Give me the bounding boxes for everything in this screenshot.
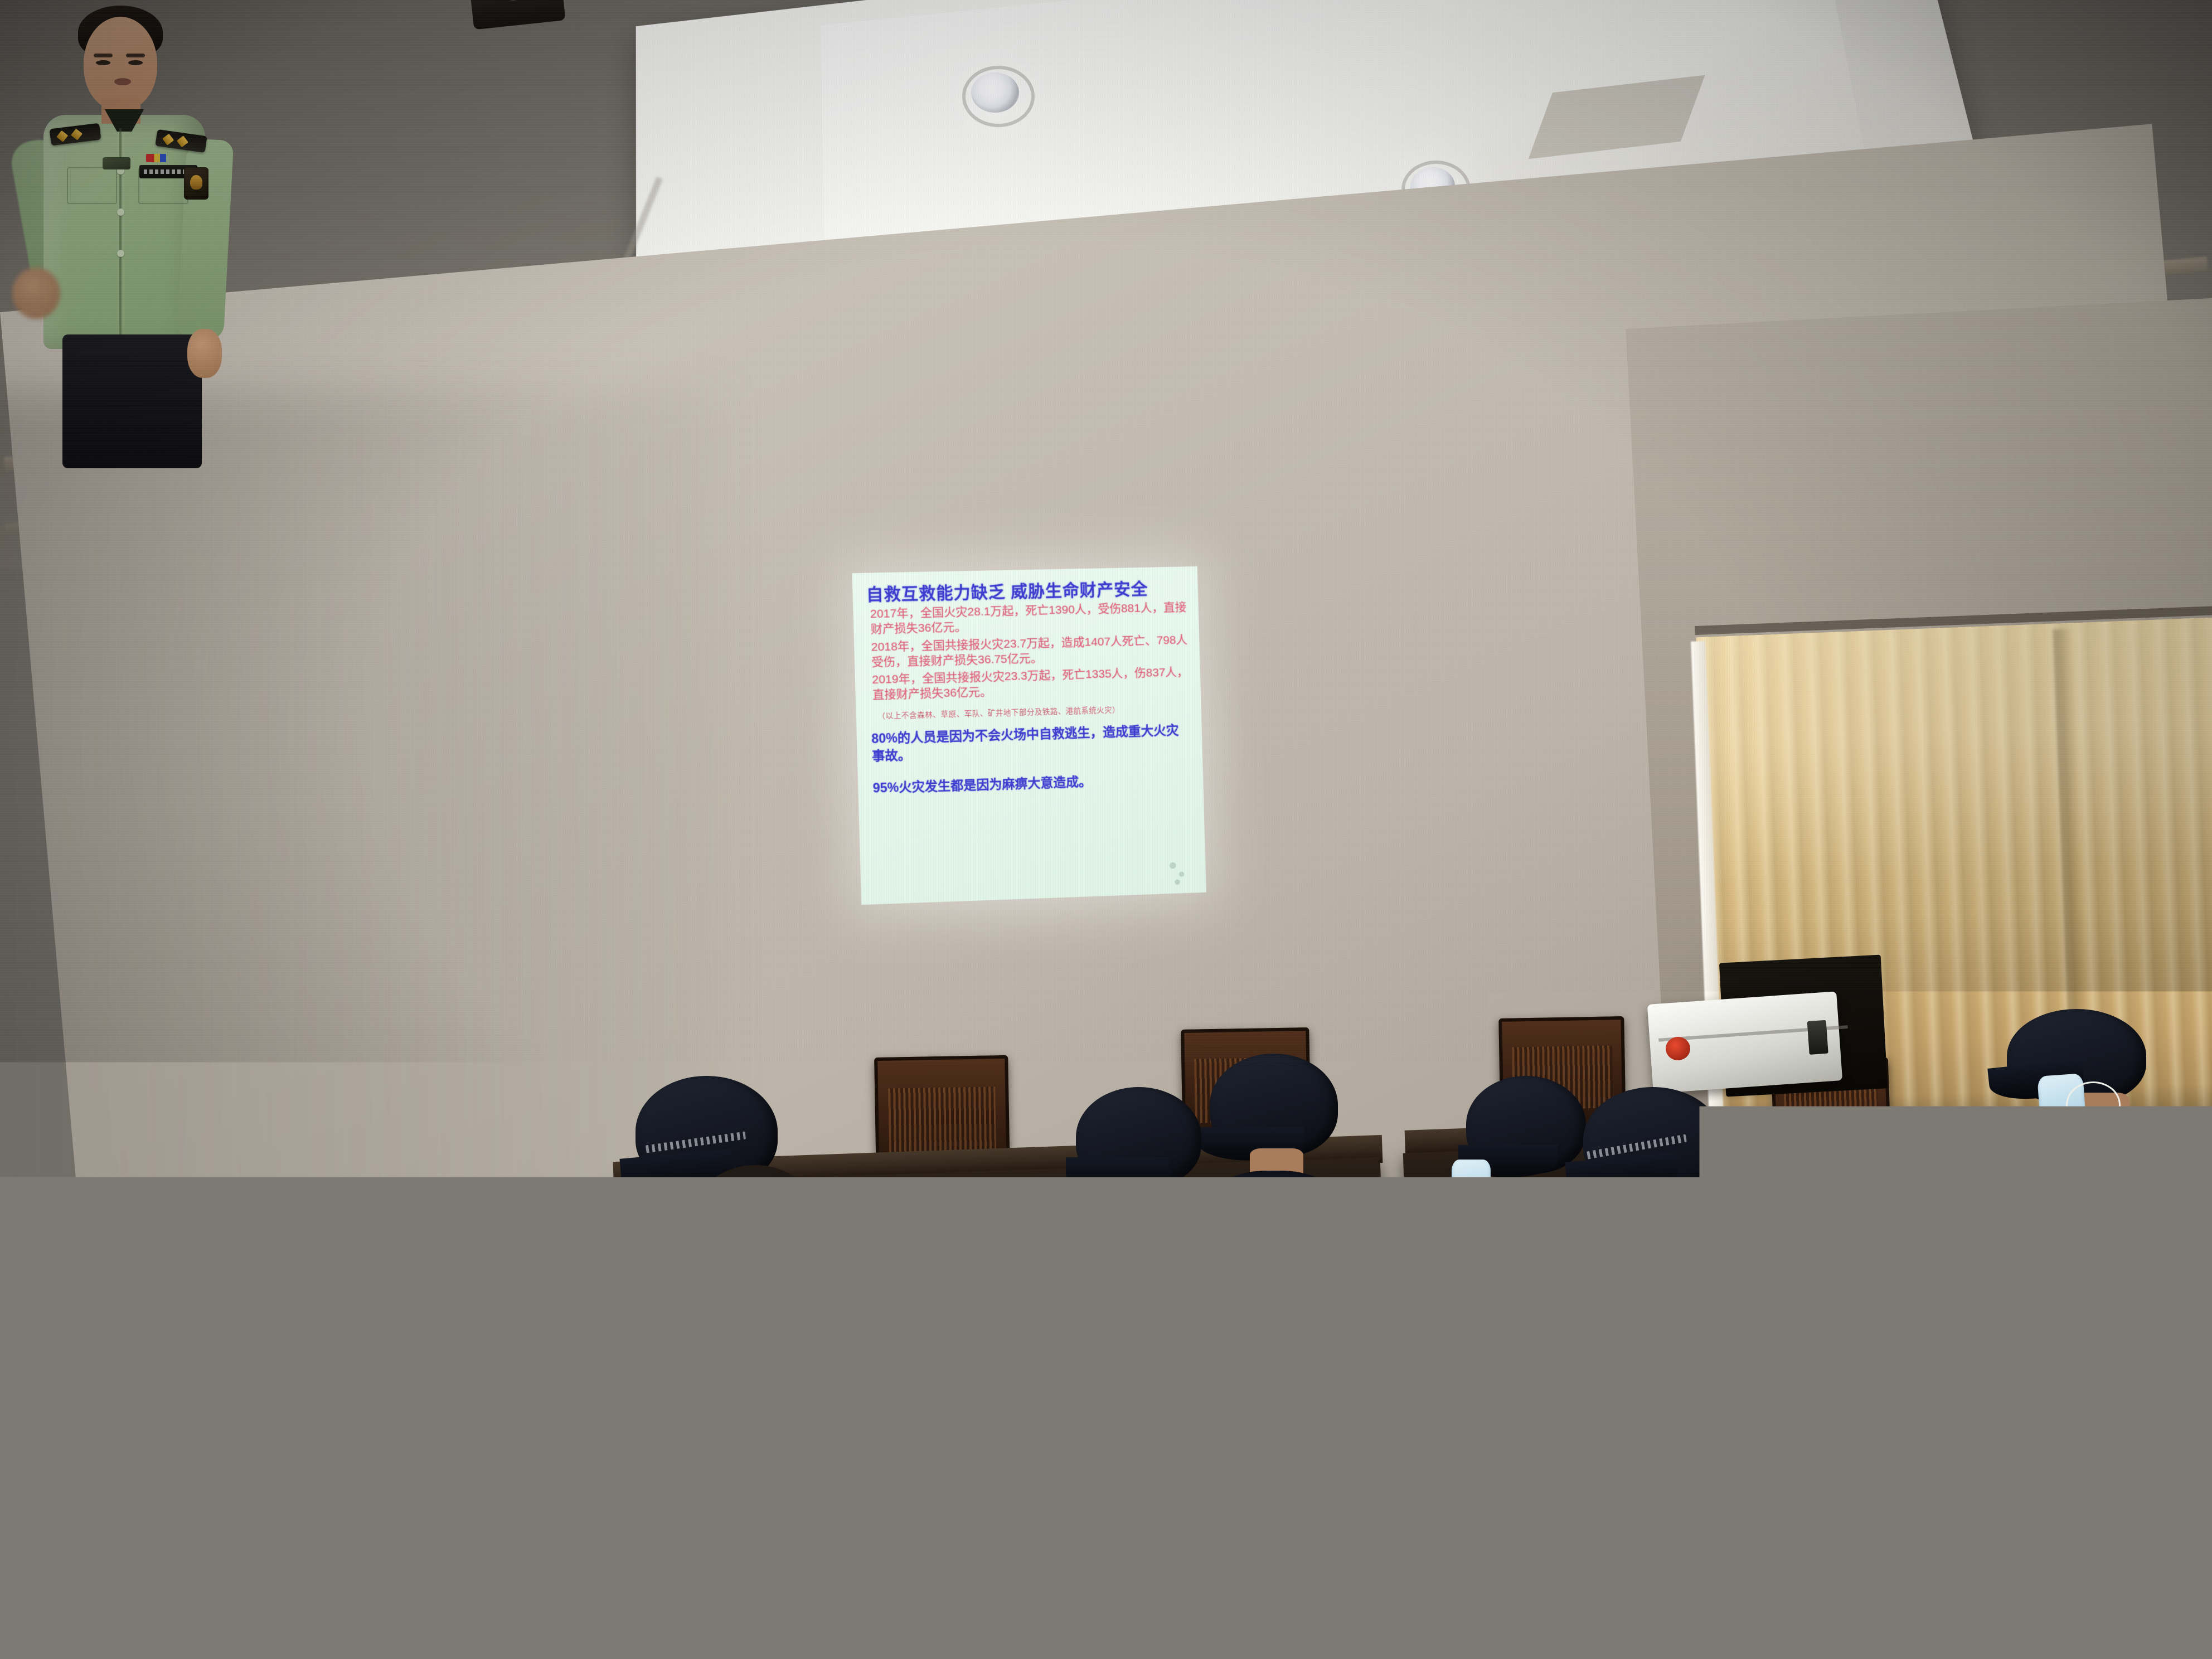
mask-strap xyxy=(1318,1358,1371,1408)
bottle-brand-en: NONGFU SPRING xyxy=(812,1568,862,1571)
presenter-right-hand xyxy=(187,329,222,378)
presenter-left-hand xyxy=(12,268,60,319)
presenter-chest-badge-icon xyxy=(103,157,130,169)
slide-highlight: 95%火灾发生都是因为麻痹大意造成。 xyxy=(872,770,1192,797)
slide-watermark-logo-icon xyxy=(1161,855,1194,889)
presenter-brow xyxy=(94,54,113,57)
presenter-eye xyxy=(96,60,110,65)
slide-highlight-text: 的人员是因为不会火场中自救逃生，造成重大火灾事故。 xyxy=(872,722,1179,763)
slide-highlight-percent: 95% xyxy=(872,780,899,795)
presenter-shirt-button xyxy=(117,208,124,216)
slide-paragraph: 2017年，全国火灾28.1万起，死亡1390人，受伤881人，直接财产损失36… xyxy=(870,600,1188,637)
mask-strap xyxy=(276,1427,345,1545)
slide-footnote: （以上不含森林、草原、军队、矿井地下部分及铁路、港航系统火灾） xyxy=(877,701,1190,721)
slide-highlight: 80%的人员是因为不会火场中自救逃生，造成重大火灾事故。 xyxy=(871,721,1192,765)
water-bottle[interactable]: 农夫山泉 NONGFU SPRING xyxy=(807,1447,866,1620)
face-mask xyxy=(1564,1183,1608,1242)
bottle-brand-cn: 农夫山泉 xyxy=(812,1556,862,1567)
armband xyxy=(648,1424,729,1520)
presenter-flag-pin-icon xyxy=(146,154,166,162)
training-room-photo: 自救互救能力缺乏 威胁生命财产安全 2017年，全国火灾28.1万起，死亡139… xyxy=(0,0,2212,1659)
presenter-head xyxy=(84,17,157,110)
presenter-brow xyxy=(126,54,145,57)
presenter-shirt-button xyxy=(117,250,124,257)
downlight-ring-1 xyxy=(962,66,1035,127)
mask-strap xyxy=(2066,1081,2121,1128)
bottle-cap-icon xyxy=(821,1447,853,1473)
presenter-chest-pocket xyxy=(67,167,117,204)
presenter-eye xyxy=(128,60,143,65)
slide-paragraph: 2019年，全国共接报火灾23.3万起，死亡1335人，伤837人，直接财产损失… xyxy=(872,664,1190,703)
projected-slide: 自救互救能力缺乏 威胁生命财产安全 2017年，全国火灾28.1万起，死亡139… xyxy=(852,566,1206,905)
slide-highlight-percent: 80% xyxy=(871,730,898,745)
presenter-shoulder-patch-icon xyxy=(184,167,208,200)
slide-highlight-text: 火灾发生都是因为麻痹大意造成。 xyxy=(899,774,1092,795)
projector xyxy=(1715,1115,1903,1209)
slide-paragraph: 2018年，全国共接报火灾23.7万起，造成1407人死亡、798人受伤，直接财… xyxy=(871,632,1189,670)
presenter-mouth xyxy=(114,78,131,85)
presenter-trousers xyxy=(62,334,202,468)
